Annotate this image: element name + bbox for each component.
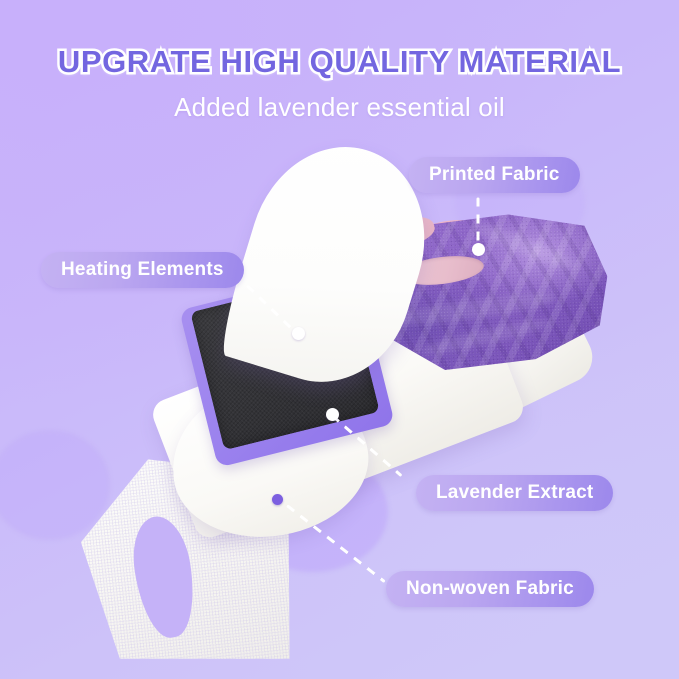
callout-non-woven-fabric[interactable]: Non-woven Fabric [386, 571, 594, 607]
leader-line-printed-fabric [477, 198, 480, 246]
leader-dot-printed-fabric [472, 243, 485, 256]
page-subtitle: Added lavender essential oil [0, 92, 679, 123]
page-title: UPGRATE HIGH QUALITY MATERIAL [0, 44, 679, 80]
infographic-canvas: UPGRATE HIGH QUALITY MATERIAL Added lave… [0, 0, 679, 679]
callout-heating-elements[interactable]: Heating Elements [41, 252, 244, 288]
callout-lavender-extract[interactable]: Lavender Extract [416, 475, 613, 511]
leader-dot-heating-elements [292, 327, 305, 340]
callout-printed-fabric[interactable]: Printed Fabric [409, 157, 580, 193]
leader-dot-lavender-extract [326, 408, 339, 421]
lavender-extract-dot [272, 494, 283, 505]
